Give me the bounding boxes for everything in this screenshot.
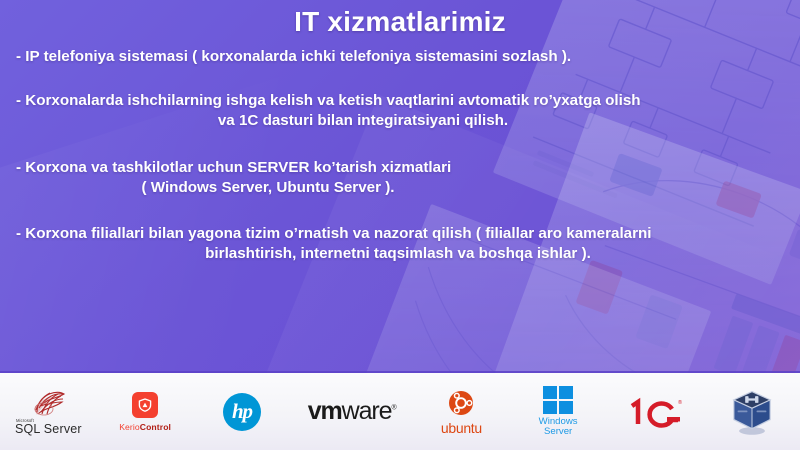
vmware-vm-label: vm bbox=[308, 397, 342, 425]
server-label: Server bbox=[539, 427, 578, 437]
svg-text:®: ® bbox=[678, 399, 682, 406]
windows-pane bbox=[559, 386, 573, 399]
onec-logo-icon: ® bbox=[626, 395, 684, 429]
bullet-line: - Korxona va tashkilotlar uchun SERVER k… bbox=[16, 158, 800, 178]
kerio-control-wordmark: KerioControl bbox=[119, 422, 171, 432]
bullet-line: va 1C dasturi bilan integiratsiyani qili… bbox=[16, 111, 800, 131]
logo-1c: ® bbox=[612, 377, 698, 447]
sql-server-wordmark: Microsoft SQL Server bbox=[15, 419, 82, 436]
bullet-paragraph-4: - Korxona filiallari bilan yagona tizim … bbox=[0, 224, 800, 264]
kerio-shield-icon bbox=[132, 392, 158, 418]
logo-vmware: vmware® bbox=[296, 377, 408, 447]
virtualbox-cube-icon bbox=[729, 387, 775, 437]
windows-flag-icon bbox=[543, 386, 573, 414]
vmware-wordmark: vmware® bbox=[308, 399, 396, 424]
sql-server-mesh-icon bbox=[28, 388, 68, 418]
bullet-line: ( Windows Server, Ubuntu Server ). bbox=[16, 178, 800, 198]
logobar-divider bbox=[0, 371, 800, 373]
bullet-paragraph-3: - Korxona va tashkilotlar uchun SERVER k… bbox=[0, 158, 800, 198]
kerio-label: Kerio bbox=[119, 422, 140, 432]
logo-virtualbox bbox=[709, 377, 795, 447]
bullet-line: - Korxona filiallari bilan yagona tizim … bbox=[16, 224, 800, 244]
partner-logo-bar: Microsoft SQL Server KerioControl hp bbox=[0, 373, 800, 450]
logo-windows-server: Windows Server bbox=[515, 377, 601, 447]
presentation-slide: IT xizmatlarimiz - IP telefoniya sistema… bbox=[0, 0, 800, 450]
logo-ubuntu: ubuntu bbox=[418, 377, 504, 447]
bullet-paragraph-1: - IP telefoniya sistemasi ( korxonalarda… bbox=[0, 47, 800, 67]
bullet-line: - Korxonalarda ishchilarning ishga kelis… bbox=[16, 91, 800, 111]
windows-pane bbox=[543, 386, 557, 399]
logo-kerio-control: KerioControl bbox=[102, 377, 188, 447]
windows-pane bbox=[543, 401, 557, 414]
bullet-paragraph-2: - Korxonalarda ishchilarning ishga kelis… bbox=[0, 91, 800, 131]
slide-content: IT xizmatlarimiz - IP telefoniya sistema… bbox=[0, 0, 800, 265]
ubuntu-label: ubuntu bbox=[441, 420, 482, 436]
bullet-line: birlashtirish, internetni taqsimlash va … bbox=[16, 244, 800, 264]
vmware-ware-label: ware bbox=[342, 397, 392, 425]
hp-label: hp bbox=[232, 401, 252, 422]
control-label: Control bbox=[140, 422, 171, 432]
windows-pane bbox=[559, 401, 573, 414]
bullet-line: - IP telefoniya sistemasi ( korxonalarda… bbox=[16, 47, 800, 67]
slide-title: IT xizmatlarimiz bbox=[0, 0, 800, 38]
logo-sql-server: Microsoft SQL Server bbox=[5, 377, 91, 447]
ubuntu-circle-of-friends-icon bbox=[446, 388, 476, 418]
logo-hp: hp bbox=[199, 377, 285, 447]
registered-mark: ® bbox=[391, 405, 395, 412]
hp-circle-icon: hp bbox=[223, 393, 261, 431]
windows-server-wordmark: Windows Server bbox=[539, 417, 578, 437]
sql-server-label: SQL Server bbox=[15, 422, 82, 436]
